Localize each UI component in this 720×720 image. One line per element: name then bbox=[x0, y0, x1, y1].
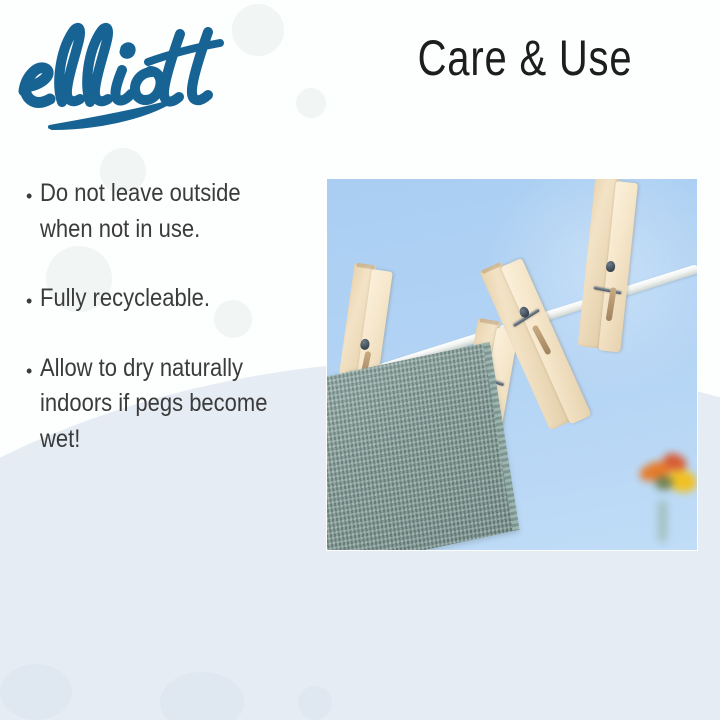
list-item: • Fully recycleable. bbox=[26, 281, 316, 317]
hanging-towel bbox=[327, 342, 517, 550]
bubble-decoration bbox=[160, 672, 244, 720]
product-photo-frame bbox=[327, 179, 697, 550]
bubble-decoration bbox=[0, 664, 72, 720]
bullet-marker-icon: • bbox=[26, 187, 40, 205]
bubble-decoration bbox=[316, 624, 346, 654]
list-item: • Do not leave outside when not in use. bbox=[26, 176, 316, 247]
care-and-use-infographic: Care & Use • Do not leave outside when n… bbox=[0, 0, 720, 720]
bubble-ring-decoration bbox=[136, 548, 286, 698]
brand-logo-elliott[interactable] bbox=[12, 14, 242, 136]
blurred-flower bbox=[633, 450, 697, 542]
bubble-decoration bbox=[298, 686, 332, 720]
bubble-decoration bbox=[70, 586, 126, 642]
list-item-text: Allow to dry naturally indoors if pegs b… bbox=[40, 351, 283, 458]
bottom-band bbox=[0, 666, 720, 720]
list-item-text: Fully recycleable. bbox=[40, 281, 283, 317]
bubble-decoration bbox=[16, 582, 52, 618]
clothes-pegs-photo bbox=[327, 179, 697, 550]
page-title: Care & Use bbox=[393, 30, 657, 88]
header: Care & Use bbox=[0, 0, 720, 150]
list-item-text: Do not leave outside when not in use. bbox=[40, 176, 283, 247]
list-item: • Allow to dry naturally indoors if pegs… bbox=[26, 351, 316, 458]
bubble-decoration bbox=[300, 518, 328, 546]
flower-stem bbox=[659, 500, 666, 542]
care-instructions-list: • Do not leave outside when not in use. … bbox=[26, 176, 316, 491]
bullet-marker-icon: • bbox=[26, 292, 40, 310]
bullet-marker-icon: • bbox=[26, 362, 40, 380]
bubble-decoration bbox=[284, 548, 324, 588]
flower-petal bbox=[655, 476, 673, 490]
